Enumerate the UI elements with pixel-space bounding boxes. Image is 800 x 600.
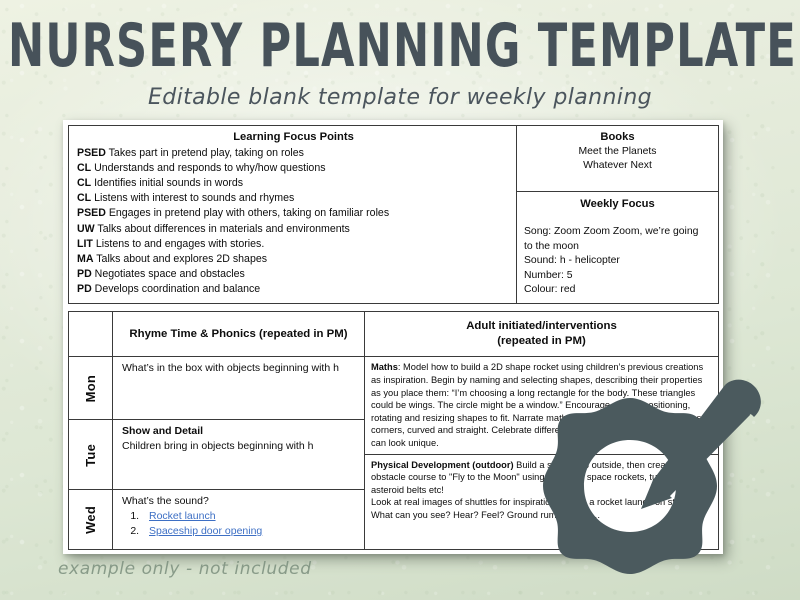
rhyme-title: Show and Detail	[122, 424, 358, 439]
book-title: Meet the Planets	[522, 145, 713, 159]
table-row: Learning Focus Points PSED Takes part in…	[69, 126, 719, 192]
link-spaceship-door-opening[interactable]: Spaceship door opening	[149, 525, 262, 537]
table-header-row: Rhyme Time & Phonics (repeated in PM) Ad…	[69, 312, 719, 357]
rhyme-text: What’s in the box with objects beginning…	[122, 362, 339, 374]
activity-label: Maths	[371, 362, 398, 372]
list-item-text: Talks about differences in materials and…	[97, 223, 349, 235]
weekly-focus-line: Number: 5	[524, 269, 711, 283]
list-item: CL Understands and responds to why/how q…	[77, 161, 510, 176]
overview-table: Learning Focus Points PSED Takes part in…	[68, 125, 719, 304]
activity-text-secondary: Look at real images of shuttles for insp…	[371, 496, 711, 521]
list-item: Rocket launch	[142, 509, 358, 524]
page-title: Nursery Planning Template	[8, 16, 792, 76]
list-item-text: Talks about and explores 2D shapes	[96, 253, 267, 265]
area-code: MA	[77, 253, 93, 265]
day-label-tue: Tue	[69, 420, 113, 490]
activity-block-pd: Physical Development (outdoor) Build a s…	[371, 459, 711, 497]
planning-document-page: Learning Focus Points PSED Takes part in…	[63, 120, 723, 554]
day-label-text: Mon	[83, 375, 98, 402]
list-item-text: Takes part in pretend play, taking on ro…	[109, 147, 304, 159]
rhyme-cell-wed[interactable]: What’s the sound? Rocket launch Spaceshi…	[113, 490, 365, 550]
table-row: Mon What’s in the box with objects begin…	[69, 357, 719, 420]
adult-column-header-line1: Adult initiated/interventions	[369, 319, 714, 334]
rhyme-text: Children bring in objects beginning with…	[122, 440, 313, 452]
list-item-text: Understands and responds to why/how ques…	[94, 162, 325, 174]
activity-block-maths: Maths: Model how to build a 2D shape roc…	[371, 361, 711, 449]
day-label-text: Wed	[83, 506, 98, 534]
adult-column-header-line2: (repeated in PM)	[369, 334, 714, 349]
weekly-focus-line: Sound: h - helicopter	[524, 254, 711, 268]
rhyme-cell-tue[interactable]: Show and Detail Children bring in object…	[113, 420, 365, 490]
list-item-text: Listens with interest to sounds and rhym…	[94, 192, 294, 204]
books-heading: Books	[522, 130, 713, 144]
learning-focus-cell: Learning Focus Points PSED Takes part in…	[69, 126, 517, 304]
list-item-text: Listens to and engages with stories.	[96, 238, 264, 250]
list-item: PD Negotiates space and obstacles	[77, 267, 510, 282]
area-code: LIT	[77, 238, 93, 250]
adult-column-header: Adult initiated/interventions (repeated …	[365, 312, 719, 357]
day-label-text: Tue	[83, 444, 98, 467]
list-item: Spaceship door opening	[142, 524, 358, 539]
book-title: Whatever Next	[522, 159, 713, 173]
area-code: UW	[77, 223, 95, 235]
weekly-focus-line: to the moon	[524, 240, 711, 254]
list-item: UW Talks about differences in materials …	[77, 222, 510, 237]
weekly-schedule-table: Rhyme Time & Phonics (repeated in PM) Ad…	[68, 311, 719, 550]
list-item: LIT Listens to and engages with stories.	[77, 237, 510, 252]
rhyme-cell-mon[interactable]: What’s in the box with objects beginning…	[113, 357, 365, 420]
rhyme-text: What’s the sound?	[122, 494, 358, 509]
link-rocket-launch[interactable]: Rocket launch	[149, 510, 216, 522]
weekly-focus-line: Colour: red	[524, 283, 711, 297]
day-label-mon: Mon	[69, 357, 113, 420]
area-code: PD	[77, 268, 92, 280]
list-item: PSED Takes part in pretend play, taking …	[77, 146, 510, 161]
list-item: CL Identifies initial sounds in words	[77, 176, 510, 191]
adult-activities-cell[interactable]: Maths: Model how to build a 2D shape roc…	[365, 357, 719, 550]
day-label-wed: Wed	[69, 490, 113, 550]
activity-text: Model how to build a 2D shape rocket usi…	[371, 362, 704, 448]
list-item-text: Develops coordination and balance	[95, 283, 261, 295]
area-code: PSED	[77, 207, 106, 219]
area-code: PSED	[77, 147, 106, 159]
list-item: PSED Engages in pretend play with others…	[77, 206, 510, 221]
weekly-focus-line: Song: Zoom Zoom Zoom, we’re going	[524, 225, 711, 239]
activity-label: Physical Development (outdoor)	[371, 460, 514, 470]
page-header: Nursery Planning Template Editable blank…	[0, 0, 800, 110]
activity-divider: Physical Development (outdoor) Build a s…	[365, 454, 718, 522]
weekly-focus-cell: Weekly Focus Song: Zoom Zoom Zoom, we’re…	[517, 192, 719, 304]
weekly-focus-heading: Weekly Focus	[524, 197, 711, 211]
area-code: CL	[77, 162, 91, 174]
books-cell: Books Meet the Planets Whatever Next	[517, 126, 719, 192]
list-item: PD Develops coordination and balance	[77, 282, 510, 297]
example-caption: example only - not included	[58, 559, 312, 579]
area-code: CL	[77, 177, 91, 189]
list-item: CL Listens with interest to sounds and r…	[77, 191, 510, 206]
learning-focus-heading: Learning Focus Points	[77, 130, 510, 145]
area-code: PD	[77, 283, 92, 295]
page-canvas: Nursery Planning Template Editable blank…	[0, 0, 800, 600]
list-item-text: Identifies initial sounds in words	[94, 177, 243, 189]
list-item: MA Talks about and explores 2D shapes	[77, 252, 510, 267]
page-subtitle: Editable blank template for weekly plann…	[0, 85, 800, 110]
list-item-text: Negotiates space and obstacles	[95, 268, 245, 280]
area-code: CL	[77, 192, 91, 204]
list-item-text: Engages in pretend play with others, tak…	[109, 207, 389, 219]
rhyme-link-list: Rocket launch Spaceship door opening	[142, 509, 358, 539]
rhyme-column-header: Rhyme Time & Phonics (repeated in PM)	[113, 312, 365, 357]
day-column-header	[69, 312, 113, 357]
